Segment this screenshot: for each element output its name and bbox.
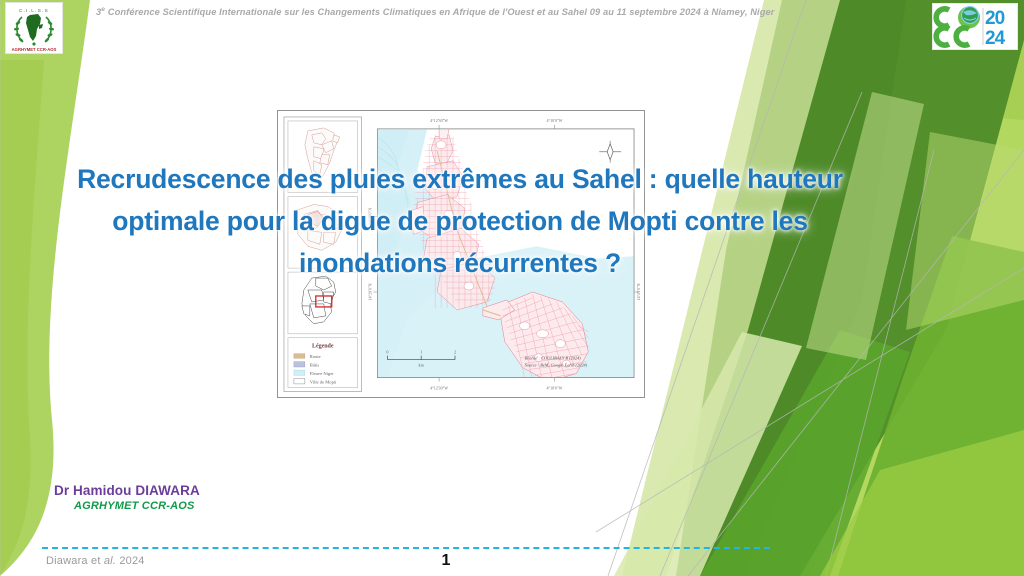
cilss-logo-mark: C.I.L.S.S AGRHYMET CCR-AOS [6,3,62,53]
footer-citation-suffix: 2024 [116,555,145,567]
conference-header-text: 3e Conférence Scientifique International… [96,4,776,18]
graticule-top-right: 4°10'0"W [546,118,562,123]
author-name: Dr Hamidou DIAWARA [54,482,384,499]
ccc-2024-logo-mark: 20 24 [933,4,1017,49]
legend-title: Légende [312,344,334,350]
graticule-top-left: 4°12'30"W [430,118,448,123]
author-organisation: AGRHYMET CCR-AOS [74,499,384,514]
slide-canvas: C.I.L.S.S AGRHYMET CCR-AOS [0,0,1024,576]
scalebar-tick-2: 2 [454,350,456,355]
svg-text:AGRHYMET CCR-AOS: AGRHYMET CCR-AOS [12,47,57,52]
svg-text:C.I.L.S.S: C.I.L.S.S [19,8,49,13]
footer-divider [42,547,770,549]
graticule-bottom-right: 4°10'0"W [546,385,562,390]
graticule-left-lower: 14°29'0"N [367,283,372,300]
header-conference-line: Conférence Scientifique Internationale s… [108,7,775,17]
graticule-bottom-left: 4°12'30"W [430,385,448,390]
footer-citation-italic: al. [104,555,116,567]
legend-label-ville: Ville de Mopti [310,379,337,384]
svg-text:24: 24 [985,28,1006,49]
scalebar-unit: km [419,363,425,368]
svg-text:20: 20 [985,8,1005,29]
scalebar-tick-0: 0 [386,350,388,355]
footer-citation: Diawara et al. 2024 [46,553,145,569]
page-title: Recrudescence des pluies extrêmes au Sah… [60,158,860,284]
figure-credit-realise: Réalisé : COULIBALY B (2024) [524,356,582,361]
title-line-2: optimale pour la digue de protection de … [60,200,860,242]
title-line-3: inondations récurrentes ? [60,242,860,284]
header-ordinal-suffix: e [101,6,105,13]
legend-label-batis: Bâtis [310,362,320,367]
legend-label-route: Route [310,354,321,359]
cilss-logo: C.I.L.S.S AGRHYMET CCR-AOS [5,2,63,54]
page-number: 1 [424,551,468,571]
graticule-right-lower: 14°29'0"N [636,283,641,300]
scalebar-tick-1: 1 [420,350,422,355]
legend-label-fleuve: Fleuve Niger [310,371,334,376]
title-line-1: Recrudescence des pluies extrêmes au Sah… [60,158,860,200]
footer-citation-prefix: Diawara et [46,555,104,567]
author-block: Dr Hamidou DIAWARA AGRHYMET CCR-AOS [54,482,384,514]
ccc-2024-logo: 20 24 [932,3,1018,50]
